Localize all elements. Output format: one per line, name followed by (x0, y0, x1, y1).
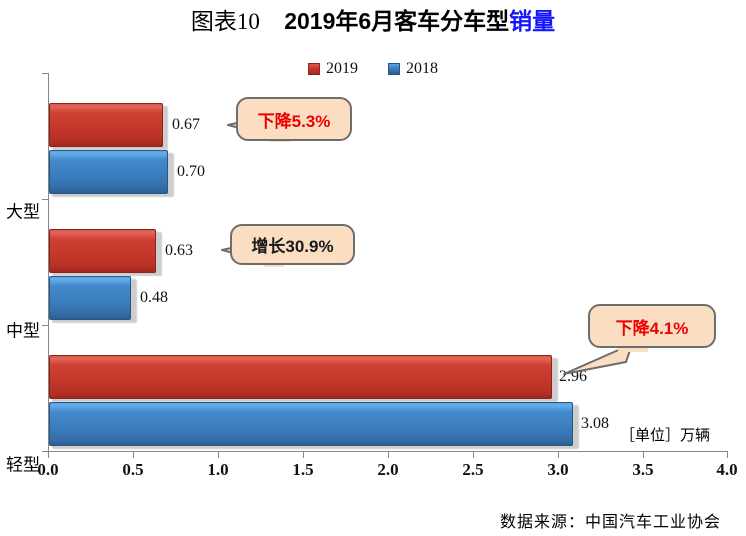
title-highlight: 销量 (509, 8, 555, 34)
bar-daxing-2018[interactable] (49, 150, 168, 194)
bar-zhongxing-2019[interactable] (49, 229, 156, 273)
y-axis-label-zhongxing: 中型 (6, 317, 40, 342)
bar-zhongxing-2018[interactable] (49, 276, 131, 320)
bar-fill (49, 103, 163, 147)
bar-fill (49, 402, 573, 446)
callout-label-daxing: 下降5.3% (236, 97, 352, 141)
data-label-zhongxing-2019: 0.63 (165, 242, 193, 260)
y-axis-label-daxing: 大型 (6, 198, 40, 223)
x-axis-label-5: 2.5 (462, 460, 483, 480)
title-main: 2019年6月客车分车型 (284, 8, 509, 34)
y-axis-tick-0 (42, 73, 48, 74)
y-axis-tick-1 (42, 199, 48, 200)
callout-label-zhongxing: 增长30.9% (230, 224, 355, 265)
x-axis-tick-2.5 (473, 452, 474, 458)
x-axis-label-4: 2.0 (377, 460, 398, 480)
bar-qingxing-2019[interactable] (49, 355, 552, 399)
x-axis-tick-1.5 (303, 452, 304, 458)
bar-fill (49, 229, 156, 273)
bar-fill (49, 355, 552, 399)
x-axis-label-7: 3.5 (632, 460, 653, 480)
data-label-daxing-2018: 0.70 (177, 163, 205, 181)
x-axis-tick-2.0 (388, 452, 389, 458)
bar-daxing-2019[interactable] (49, 103, 163, 147)
chart-container: 图表10 2019年6月客车分车型销量 2019 2018 大型 中型 轻型 (0, 0, 746, 536)
x-axis-tick-0.5 (133, 452, 134, 458)
data-label-qingxing-2018: 3.08 (581, 415, 609, 433)
x-axis-label-0: 0.0 (37, 460, 58, 480)
y-axis-label-qingxing: 轻型 (6, 451, 40, 476)
y-axis-tick-2 (42, 325, 48, 326)
bar-qingxing-2018[interactable] (49, 402, 573, 446)
unit-note: ［单位］万辆 (620, 424, 710, 445)
y-axis-labels: 大型 中型 轻型 (0, 73, 44, 452)
page-title: 图表10 2019年6月客车分车型销量 (0, 6, 746, 37)
x-axis-label-8: 4.0 (716, 460, 737, 480)
x-axis-tick-4.0 (727, 452, 728, 458)
data-label-daxing-2019: 0.67 (172, 116, 200, 134)
callout-label-qingxing: 下降4.1% (588, 304, 716, 348)
bar-fill (49, 150, 168, 194)
title-prefix: 图表10 (191, 9, 260, 34)
source-note: 数据来源：中国汽车工业协会 (500, 508, 721, 532)
x-axis-tick-1.0 (218, 452, 219, 458)
x-axis-label-3: 1.5 (292, 460, 313, 480)
bar-fill (49, 276, 131, 320)
x-axis-tick-3.0 (558, 452, 559, 458)
x-axis-label-1: 0.5 (122, 460, 143, 480)
x-axis-tick-3.5 (643, 452, 644, 458)
x-axis-label-2: 1.0 (207, 460, 228, 480)
x-axis-label-6: 3.0 (547, 460, 568, 480)
x-axis-labels: 0.0 0.5 1.0 1.5 2.0 2.5 3.0 3.5 4.0 (48, 460, 728, 488)
data-label-zhongxing-2018: 0.48 (140, 289, 168, 307)
x-axis-tick-0.0 (48, 452, 49, 458)
